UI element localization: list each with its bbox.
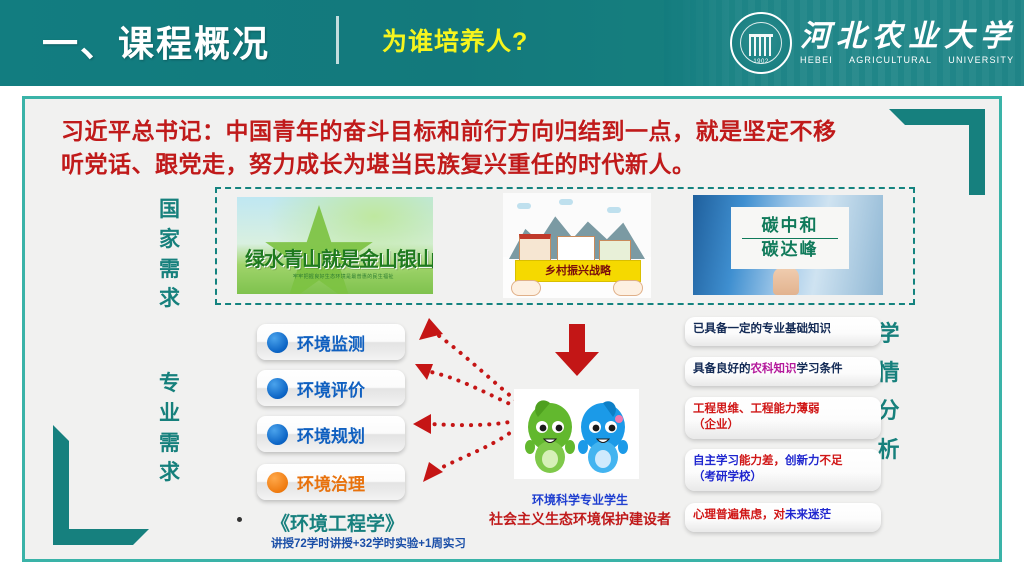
arrow-head-icon: [413, 414, 431, 434]
info-segment: 具备良好的: [693, 363, 751, 375]
quote-text: 习近平总书记：中国青年的奋斗目标和前行方向归结到一点，就是坚定不移 听党话、跟党…: [61, 115, 951, 182]
logo-en-university: UNIVERSITY: [948, 55, 1014, 65]
cloud-icon: [517, 203, 531, 209]
info-segment: 学习条件: [797, 363, 843, 375]
village-art: 乡村振兴战略: [503, 193, 651, 298]
bullet-dot-icon: [267, 472, 288, 493]
thumb1-main-text: 绿水青山就是金山银山: [245, 243, 427, 272]
info-box-agri-conditions[interactable]: 具备良好的农科知识学习条件: [685, 357, 881, 386]
cloud-icon: [607, 207, 621, 213]
thumb2-banner-text: 乡村振兴战略: [515, 260, 641, 282]
info-segment: 心理普遍焦虑，对: [693, 509, 785, 521]
label-char: 家: [155, 225, 185, 255]
pill-environmental-governance[interactable]: 环境治理: [257, 464, 405, 500]
sign-board: 碳中和 碳达峰: [731, 207, 849, 269]
header-divider: [336, 16, 339, 64]
university-logo: 1902 河北农业大学 HEBEI AGRICULTURAL UNIVERSIT…: [730, 8, 1016, 78]
quote-line-1: 习近平总书记：中国青年的奋斗目标和前行方向归结到一点，就是坚定不移: [61, 118, 837, 144]
thumb3-line-1: 碳中和: [762, 217, 819, 236]
label-char: 业: [155, 399, 185, 429]
thumb1-sub-text: 牢牢把握良好生态环境是最普惠的民生福祉: [293, 273, 394, 280]
thumbnail-rural-revitalization: 乡村振兴战略: [503, 193, 651, 298]
label-country-demand: 国 家 需 求: [155, 195, 185, 314]
info-segment: 不足: [820, 455, 843, 467]
info-box-psychological-anxiety[interactable]: 心理普遍焦虑，对未来迷茫: [685, 503, 881, 532]
info-box-engineering-weakness[interactable]: 工程思维、工程能力薄弱 （企业）: [685, 397, 881, 439]
thumbnail-carbon-goals: 碳中和 碳达峰: [693, 195, 883, 295]
bullet-icon: [237, 517, 242, 522]
mascot-image: [514, 389, 639, 479]
label-char: 专: [155, 369, 185, 399]
info-segment-highlight: 农科知识: [751, 363, 797, 375]
slide: 一、课程概况 为谁培养人? 1902 河北农业大学 HEBEI AGRICULT…: [0, 0, 1024, 576]
label-char: 国: [155, 195, 185, 225]
logo-text-block: 河北农业大学 HEBEI AGRICULTURAL UNIVERSITY: [800, 22, 1016, 65]
course-detail: 讲授72学时讲授+32学时实验+1周实习: [271, 535, 466, 551]
mascot-caption-primary: 环境科学专业学生: [465, 491, 695, 508]
content-panel: 习近平总书记：中国青年的奋斗目标和前行方向归结到一点，就是坚定不移 听党话、跟党…: [22, 96, 1002, 562]
pill-label: 环境规划: [297, 422, 365, 447]
logo-en-agricultural: AGRICULTURAL: [849, 55, 932, 65]
blue-mascot-icon: [577, 399, 629, 475]
university-seal-icon: 1902: [730, 12, 792, 74]
seal-gate-glyph: [749, 34, 773, 56]
hand-icon: [773, 267, 799, 295]
hand-icon: [511, 280, 541, 296]
hand-icon: [613, 280, 643, 296]
pill-label: 环境监测: [297, 330, 365, 355]
carbon-sign-art: 碳中和 碳达峰: [693, 195, 883, 295]
corner-bracket-bottom-left: [53, 425, 149, 545]
down-arrow-icon: [553, 324, 601, 376]
page-title: 一、课程概况: [42, 15, 270, 67]
green-mountains-art: 绿水青山就是金山银山 牢牢把握良好生态环境是最普惠的民生福祉: [237, 197, 433, 294]
label-char: 求: [155, 284, 185, 314]
info-box-self-learning[interactable]: 自主学习能力差，创新力不足 （考研学校）: [685, 449, 881, 491]
info-segment: （企业）: [693, 419, 739, 431]
info-segment: 未来迷茫: [785, 509, 831, 521]
bullet-dot-icon: [267, 332, 288, 353]
pill-environmental-monitoring[interactable]: 环境监测: [257, 324, 405, 360]
slide-header: 一、课程概况 为谁培养人? 1902 河北农业大学 HEBEI AGRICULT…: [0, 0, 1024, 86]
info-segment: 自主学习: [693, 455, 739, 467]
info-segment: 已具备一定的专业基础知识: [693, 323, 831, 335]
info-box-basic-knowledge[interactable]: 已具备一定的专业基础知识: [685, 317, 881, 346]
cloud-icon: [559, 199, 573, 205]
pill-label: 环境评价: [297, 376, 365, 401]
university-name-en: HEBEI AGRICULTURAL UNIVERSITY: [800, 55, 1016, 65]
course-title: 《环境工程学》: [271, 509, 404, 536]
bullet-dot-icon: [267, 378, 288, 399]
pill-label: 环境治理: [297, 470, 365, 495]
thumb3-line-2: 碳达峰: [762, 241, 819, 260]
pill-environmental-assessment[interactable]: 环境评价: [257, 370, 405, 406]
info-segment: 工程思维、工程能力薄弱: [693, 403, 820, 415]
logo-en-hebei: HEBEI: [800, 55, 833, 65]
bullet-dot-icon: [267, 424, 288, 445]
label-char: 求: [155, 458, 185, 488]
quote-line-2: 听党话、跟党走，努力成长为堪当民族复兴重任的时代新人。: [61, 148, 951, 181]
arrow-head-icon: [423, 462, 443, 482]
info-segment: 创新力: [785, 455, 820, 467]
label-char: 需: [155, 255, 185, 285]
green-mascot-icon: [524, 399, 576, 475]
info-segment: （考研学校）: [693, 471, 762, 483]
university-name-cn: 河北农业大学: [800, 22, 1016, 52]
sign-rule: [742, 238, 838, 239]
header-subtitle: 为谁培养人?: [382, 22, 528, 58]
arrow-head-icon: [415, 364, 433, 380]
label-major-demand: 专 业 需 求: [155, 369, 185, 488]
seal-year: 1902: [732, 59, 790, 65]
info-segment: 能力差，: [739, 455, 785, 467]
thumbnail-green-mountains: 绿水青山就是金山银山 牢牢把握良好生态环境是最普惠的民生福祉: [237, 197, 433, 294]
label-char: 需: [155, 429, 185, 459]
pill-environmental-planning[interactable]: 环境规划: [257, 416, 405, 452]
